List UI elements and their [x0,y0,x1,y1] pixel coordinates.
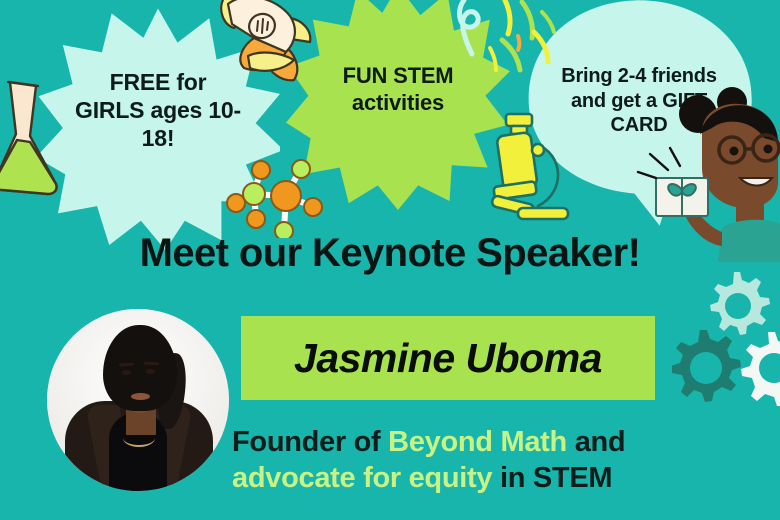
tagline-founder-of: Founder of [232,426,388,458]
portrait-lips [131,393,150,400]
rocket-icon [198,0,316,86]
tagline-in-stem: in STEM [492,462,612,494]
confetti-icon [438,0,556,78]
speaker-name: Jasmine Uboma [294,335,602,382]
tagline-and: and [567,426,625,458]
portrait-eye-left [122,370,131,375]
girl-with-gift-icon [636,86,780,262]
portrait-necklace [123,429,155,447]
tagline-line-1: Founder of Beyond Math and [232,424,756,460]
speaker-portrait [47,309,229,491]
tagline-line-2: advocate for equity in STEM [232,460,756,496]
tagline-advocate: advocate for equity [232,462,492,494]
tagline-beyond-math: Beyond Math [388,426,567,458]
flask-icon [0,80,62,198]
molecule-icon [214,152,330,238]
speaker-tagline: Founder of Beyond Math and advocate for … [232,424,756,497]
speaker-name-badge: Jasmine Uboma [241,316,655,400]
portrait-eye-right [146,369,155,374]
promo-poster: FREE for GIRLS ages 10-18! FUN STEM acti… [0,0,780,520]
gears-icon [672,270,780,406]
microscope-icon [478,108,582,224]
